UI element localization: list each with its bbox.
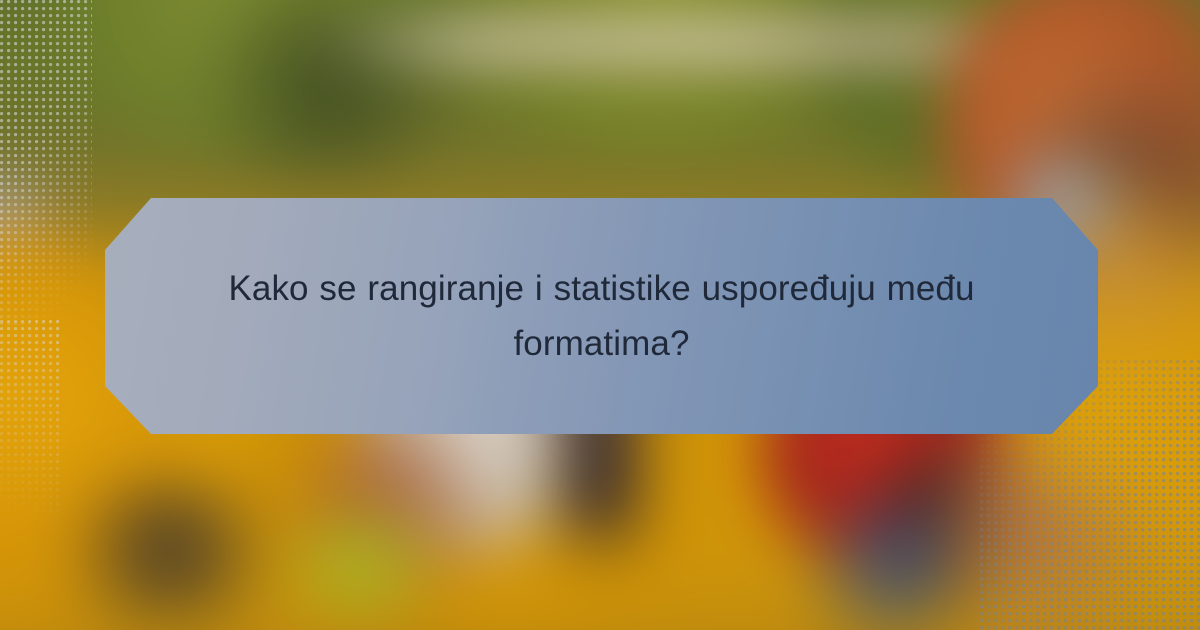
- card-question-title: Kako se rangiranje i statistike uspoređu…: [105, 261, 1098, 372]
- question-card: Kako se rangiranje i statistike uspoređu…: [105, 198, 1098, 434]
- background-shadow-lower-left: [50, 475, 290, 625]
- background-grass-lower: [260, 510, 460, 620]
- og-card-stage: Kako se rangiranje i statistike uspoređu…: [0, 0, 1200, 630]
